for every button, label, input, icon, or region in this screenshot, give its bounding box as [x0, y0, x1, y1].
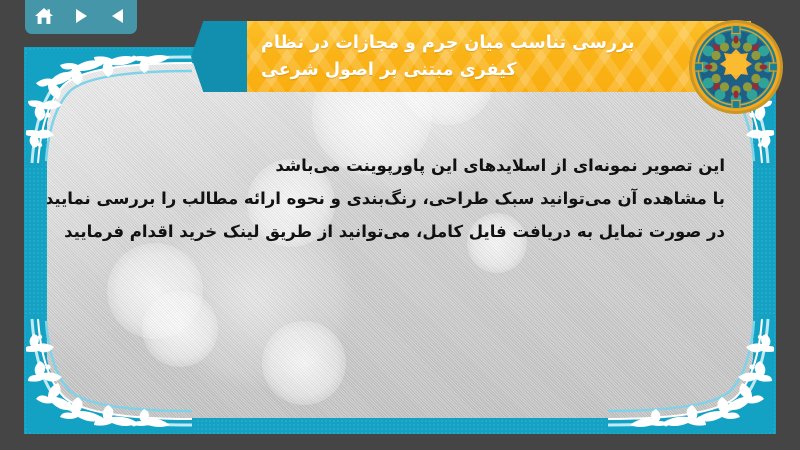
- navigation-panel: [25, 0, 137, 34]
- bokeh-circle: [262, 321, 346, 405]
- frame-corner-notch: [760, 0, 800, 38]
- title-line-2: کیفری مبتنی بر اصول شرعی: [261, 57, 516, 84]
- next-slide-button[interactable]: [67, 3, 95, 29]
- home-button[interactable]: [30, 3, 58, 29]
- slide-content-panel: این تصویر نمونه‌ای از اسلایدهای این پاور…: [47, 63, 753, 418]
- bokeh-circle: [107, 243, 203, 339]
- home-icon: [34, 7, 54, 26]
- triangle-left-icon: [109, 7, 127, 25]
- title-line-1: بررسی تناسب میان جرم و مجازات در نظام: [261, 30, 635, 57]
- slide-title: بررسی تناسب میان جرم و مجازات در نظام کی…: [243, 21, 751, 92]
- triangle-right-icon: [72, 7, 90, 25]
- bokeh-circle: [142, 291, 218, 367]
- slide-body-text: این تصویر نمونه‌ای از اسلایدهای این پاور…: [47, 149, 725, 248]
- body-line-3: در صورت تمایل به دریافت فایل کامل، می‌تو…: [67, 215, 725, 248]
- body-line-2: با مشاهده آن می‌توانید سبک طراحی، رنگ‌بن…: [67, 182, 725, 215]
- body-line-1: این تصویر نمونه‌ای از اسلایدهای این پاور…: [67, 149, 725, 182]
- slide-stage: این تصویر نمونه‌ای از اسلایدهای این پاور…: [0, 0, 800, 450]
- title-banner: بررسی تناسب میان جرم و مجازات در نظام کی…: [243, 21, 751, 92]
- previous-slide-button[interactable]: [104, 3, 132, 29]
